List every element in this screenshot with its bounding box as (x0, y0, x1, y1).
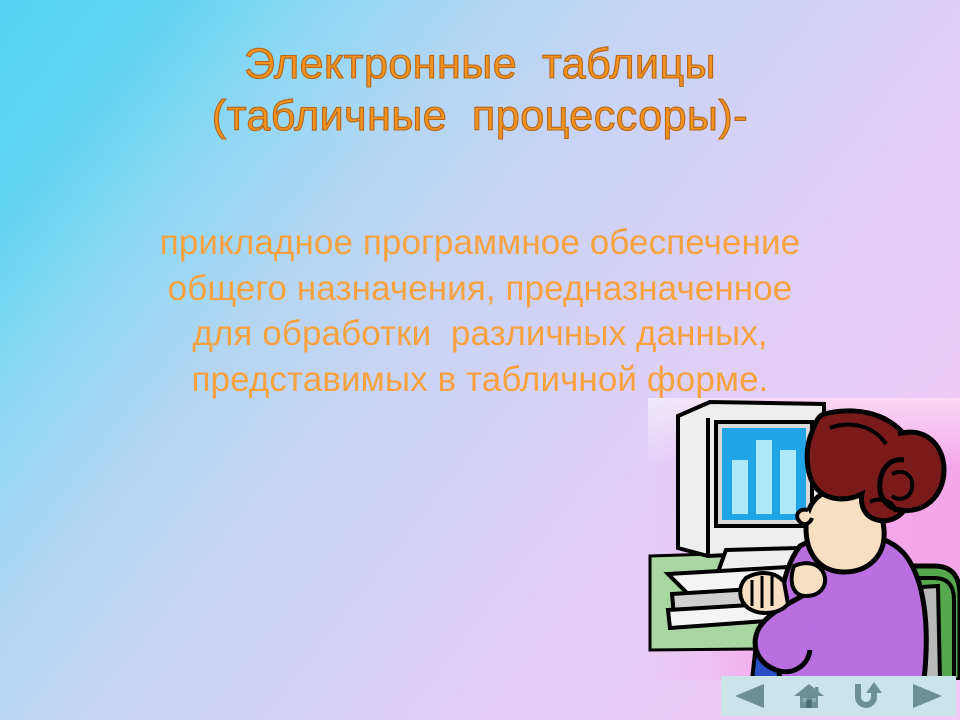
body-line-1: прикладное программное обеспечение (0, 220, 960, 266)
home-icon (793, 682, 825, 710)
body-line-3: для обработки различных данных, (0, 311, 960, 357)
return-button[interactable] (845, 679, 891, 713)
body-line-2: общего назначения, предназначенное (0, 266, 960, 312)
hand-right (792, 563, 825, 596)
return-arrow-icon (853, 682, 883, 710)
slide-title: Электронные таблицы (табличные процессор… (0, 38, 960, 143)
body-line-4: представимых в табличной форме. (0, 357, 960, 403)
hand-left (740, 573, 788, 613)
previous-slide-button[interactable] (727, 679, 773, 713)
triangle-right-icon (913, 684, 942, 708)
title-line-1: Электронные таблицы (0, 38, 960, 90)
slide-navigation-bar (721, 676, 956, 716)
slide-body-text: прикладное программное обеспечение общег… (0, 220, 960, 402)
woman-at-computer-illustration (648, 398, 960, 680)
next-slide-button[interactable] (904, 679, 950, 713)
presentation-slide: Электронные таблицы (табличные процессор… (0, 0, 960, 720)
triangle-left-icon (735, 684, 764, 708)
title-line-2: (табличные процессоры)- (0, 90, 960, 142)
home-button[interactable] (786, 679, 832, 713)
